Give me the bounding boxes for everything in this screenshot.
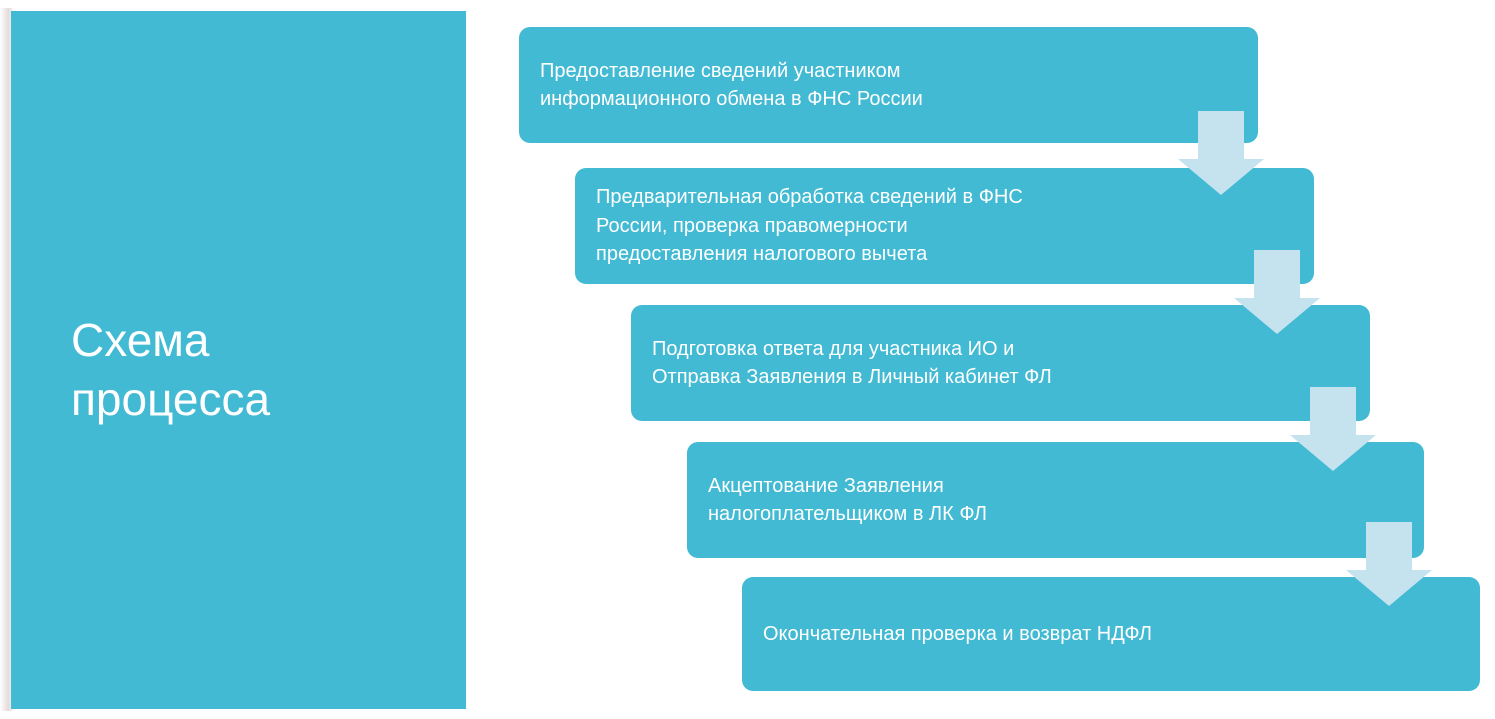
process-step-4-label: Акцептование Заявления налогоплательщико… bbox=[687, 472, 1005, 529]
process-step-5[interactable]: Окончательная проверка и возврат НДФЛ bbox=[742, 577, 1480, 691]
process-step-2[interactable]: Предварительная обработка сведений в ФНС… bbox=[575, 168, 1314, 284]
process-step-3[interactable]: Подготовка ответа для участника ИО и Отп… bbox=[631, 305, 1370, 421]
process-step-1-label: Предоставление сведений участником инфор… bbox=[519, 57, 941, 114]
slide-canvas: Схема процесса Предоставление сведений у… bbox=[0, 0, 1495, 719]
process-step-4[interactable]: Акцептование Заявления налогоплательщико… bbox=[687, 442, 1424, 558]
process-step-1[interactable]: Предоставление сведений участником инфор… bbox=[519, 27, 1258, 143]
title-panel: Схема процесса bbox=[11, 11, 466, 709]
process-step-5-label: Окончательная проверка и возврат НДФЛ bbox=[742, 620, 1170, 648]
page-title: Схема процесса bbox=[71, 311, 441, 429]
process-step-3-label: Подготовка ответа для участника ИО и Отп… bbox=[631, 335, 1070, 392]
process-step-2-label: Предварительная обработка сведений в ФНС… bbox=[575, 183, 1041, 268]
